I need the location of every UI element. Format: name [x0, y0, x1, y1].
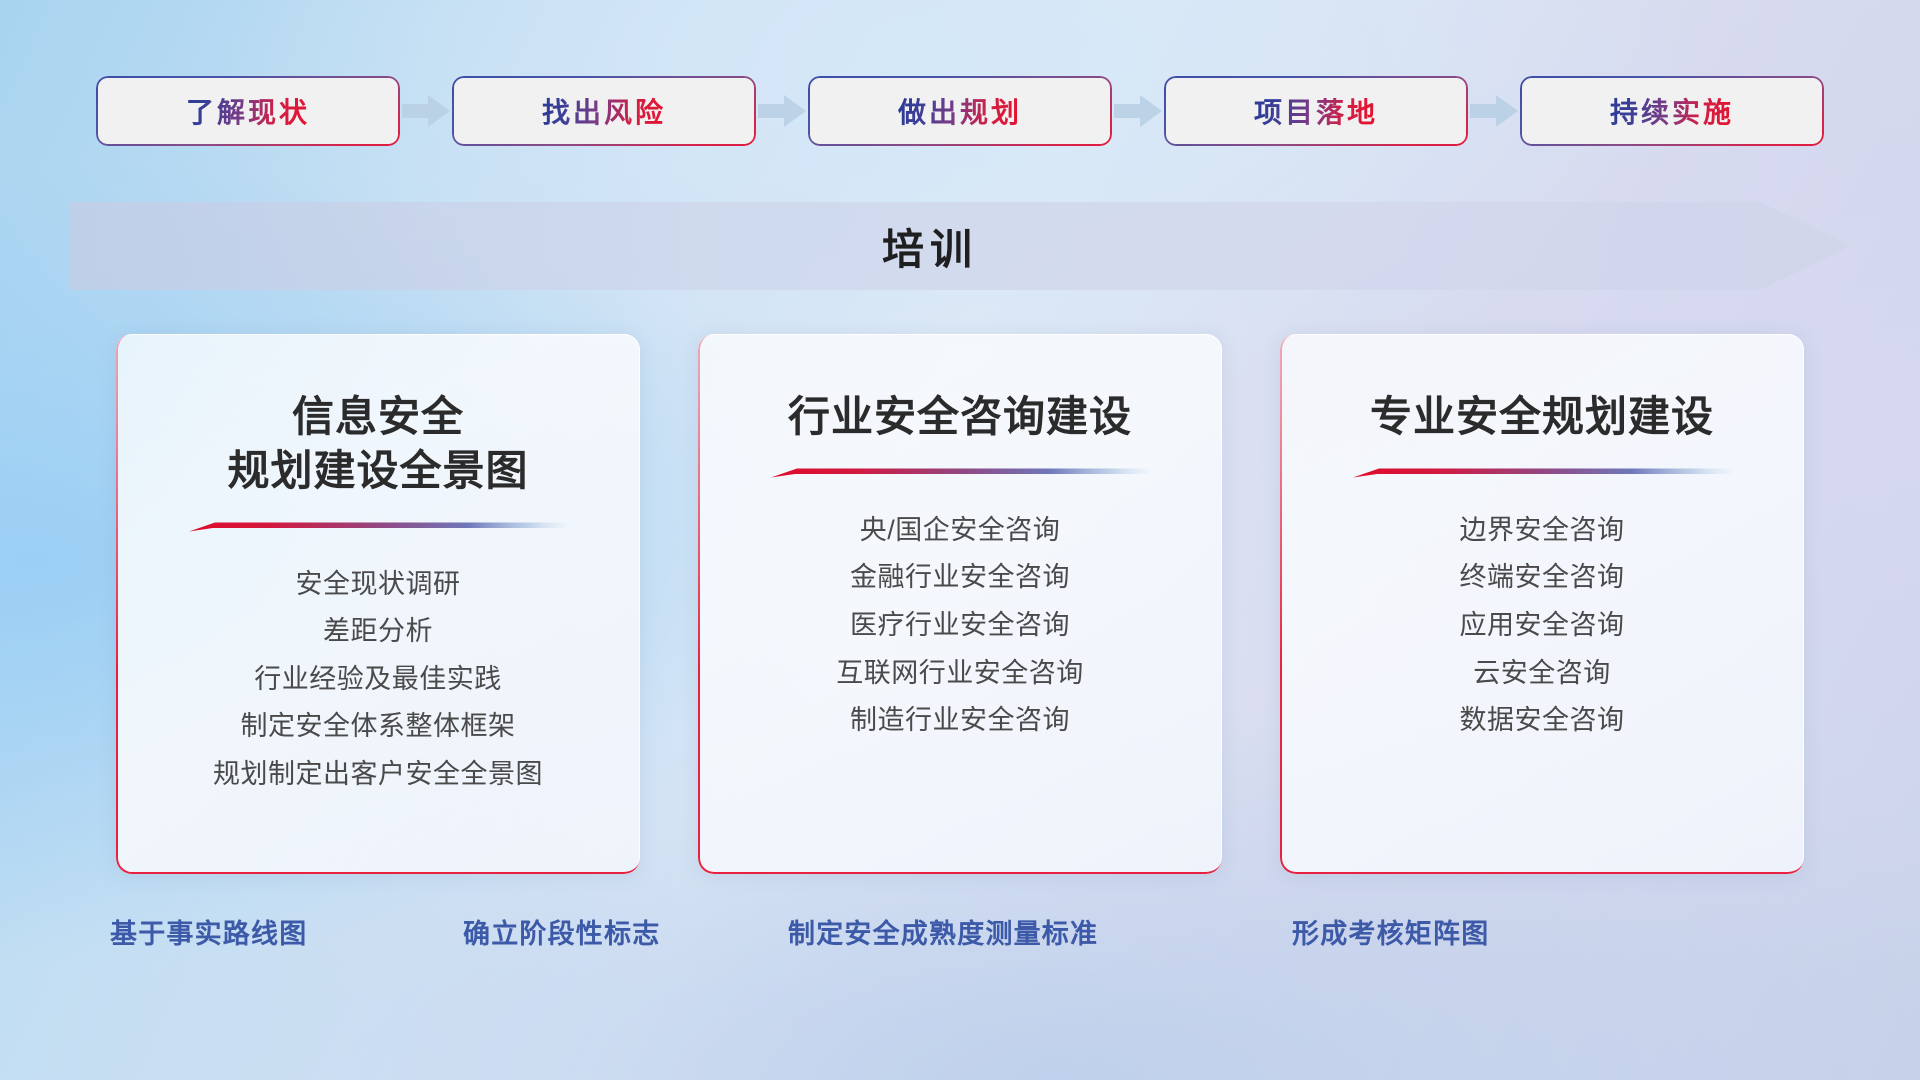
card-row: 信息安全 规划建设全景图安全现状调研差距分析行业经验及最佳实践制定安全体系整体框…	[0, 334, 1920, 874]
process-step-inner: 做出规划	[810, 78, 1110, 144]
list-item: 云安全咨询	[1473, 652, 1611, 695]
list-item: 数据安全咨询	[1460, 699, 1625, 742]
process-step-row: 了解现状找出风险做出规划项目落地持续实施	[0, 70, 1920, 152]
list-item: 制造行业安全咨询	[850, 699, 1070, 742]
card-title: 行业安全咨询建设	[788, 390, 1132, 444]
arrow-right-icon	[1112, 92, 1164, 130]
card-divider	[1353, 466, 1731, 479]
card-title: 专业安全规划建设	[1370, 390, 1714, 444]
list-item: 终端安全咨询	[1460, 556, 1625, 599]
list-item: 央/国企安全咨询	[860, 509, 1061, 552]
process-step-1[interactable]: 了解现状	[96, 76, 400, 146]
process-step-label: 项目落地	[1254, 91, 1378, 131]
caption-1: 基于事实路线图	[110, 912, 307, 951]
process-step-label: 找出风险	[542, 91, 666, 131]
process-step-inner: 项目落地	[1166, 78, 1466, 144]
process-step-label: 了解现状	[186, 91, 310, 131]
process-step-3[interactable]: 做出规划	[808, 76, 1112, 146]
process-step-label: 做出规划	[898, 91, 1022, 131]
caption-4: 形成考核矩阵图	[1292, 912, 1489, 951]
process-step-label: 持续实施	[1610, 91, 1734, 131]
process-step-inner: 持续实施	[1522, 78, 1822, 144]
training-banner: 培训	[70, 202, 1850, 290]
list-item: 规划制定出客户安全全景图	[213, 753, 543, 796]
card-divider	[771, 466, 1149, 479]
process-step-4[interactable]: 项目落地	[1164, 76, 1468, 146]
process-step-inner: 了解现状	[98, 78, 398, 144]
list-item: 医疗行业安全咨询	[850, 604, 1070, 647]
list-item: 互联网行业安全咨询	[836, 652, 1084, 695]
arrow-right-icon	[400, 92, 452, 130]
card-item-list: 边界安全咨询终端安全咨询应用安全咨询云安全咨询数据安全咨询	[1460, 509, 1625, 742]
list-item: 安全现状调研	[296, 563, 461, 606]
service-card-3[interactable]: 专业安全规划建设边界安全咨询终端安全咨询应用安全咨询云安全咨询数据安全咨询	[1280, 334, 1804, 874]
caption-2: 确立阶段性标志	[463, 912, 660, 951]
card-divider	[189, 520, 567, 533]
list-item: 应用安全咨询	[1460, 604, 1625, 647]
arrow-right-icon	[756, 92, 808, 130]
process-step-2[interactable]: 找出风险	[452, 76, 756, 146]
card-item-list: 安全现状调研差距分析行业经验及最佳实践制定安全体系整体框架规划制定出客户安全全景…	[213, 563, 543, 796]
list-item: 金融行业安全咨询	[850, 556, 1070, 599]
list-item: 制定安全体系整体框架	[241, 705, 516, 748]
caption-row: 基于事实路线图确立阶段性标志制定安全成熟度测量标准形成考核矩阵图	[0, 912, 1920, 966]
process-step-5[interactable]: 持续实施	[1520, 76, 1824, 146]
list-item: 差距分析	[323, 610, 433, 653]
card-item-list: 央/国企安全咨询金融行业安全咨询医疗行业安全咨询互联网行业安全咨询制造行业安全咨…	[836, 509, 1084, 742]
card-title: 信息安全 规划建设全景图	[227, 390, 528, 498]
service-card-1[interactable]: 信息安全 规划建设全景图安全现状调研差距分析行业经验及最佳实践制定安全体系整体框…	[116, 334, 640, 874]
list-item: 边界安全咨询	[1460, 509, 1625, 552]
list-item: 行业经验及最佳实践	[254, 658, 502, 701]
process-step-inner: 找出风险	[454, 78, 754, 144]
arrow-right-icon	[1468, 92, 1520, 130]
service-card-2[interactable]: 行业安全咨询建设央/国企安全咨询金融行业安全咨询医疗行业安全咨询互联网行业安全咨…	[698, 334, 1222, 874]
caption-3: 制定安全成熟度测量标准	[788, 912, 1098, 951]
banner-label: 培训	[70, 202, 1850, 290]
